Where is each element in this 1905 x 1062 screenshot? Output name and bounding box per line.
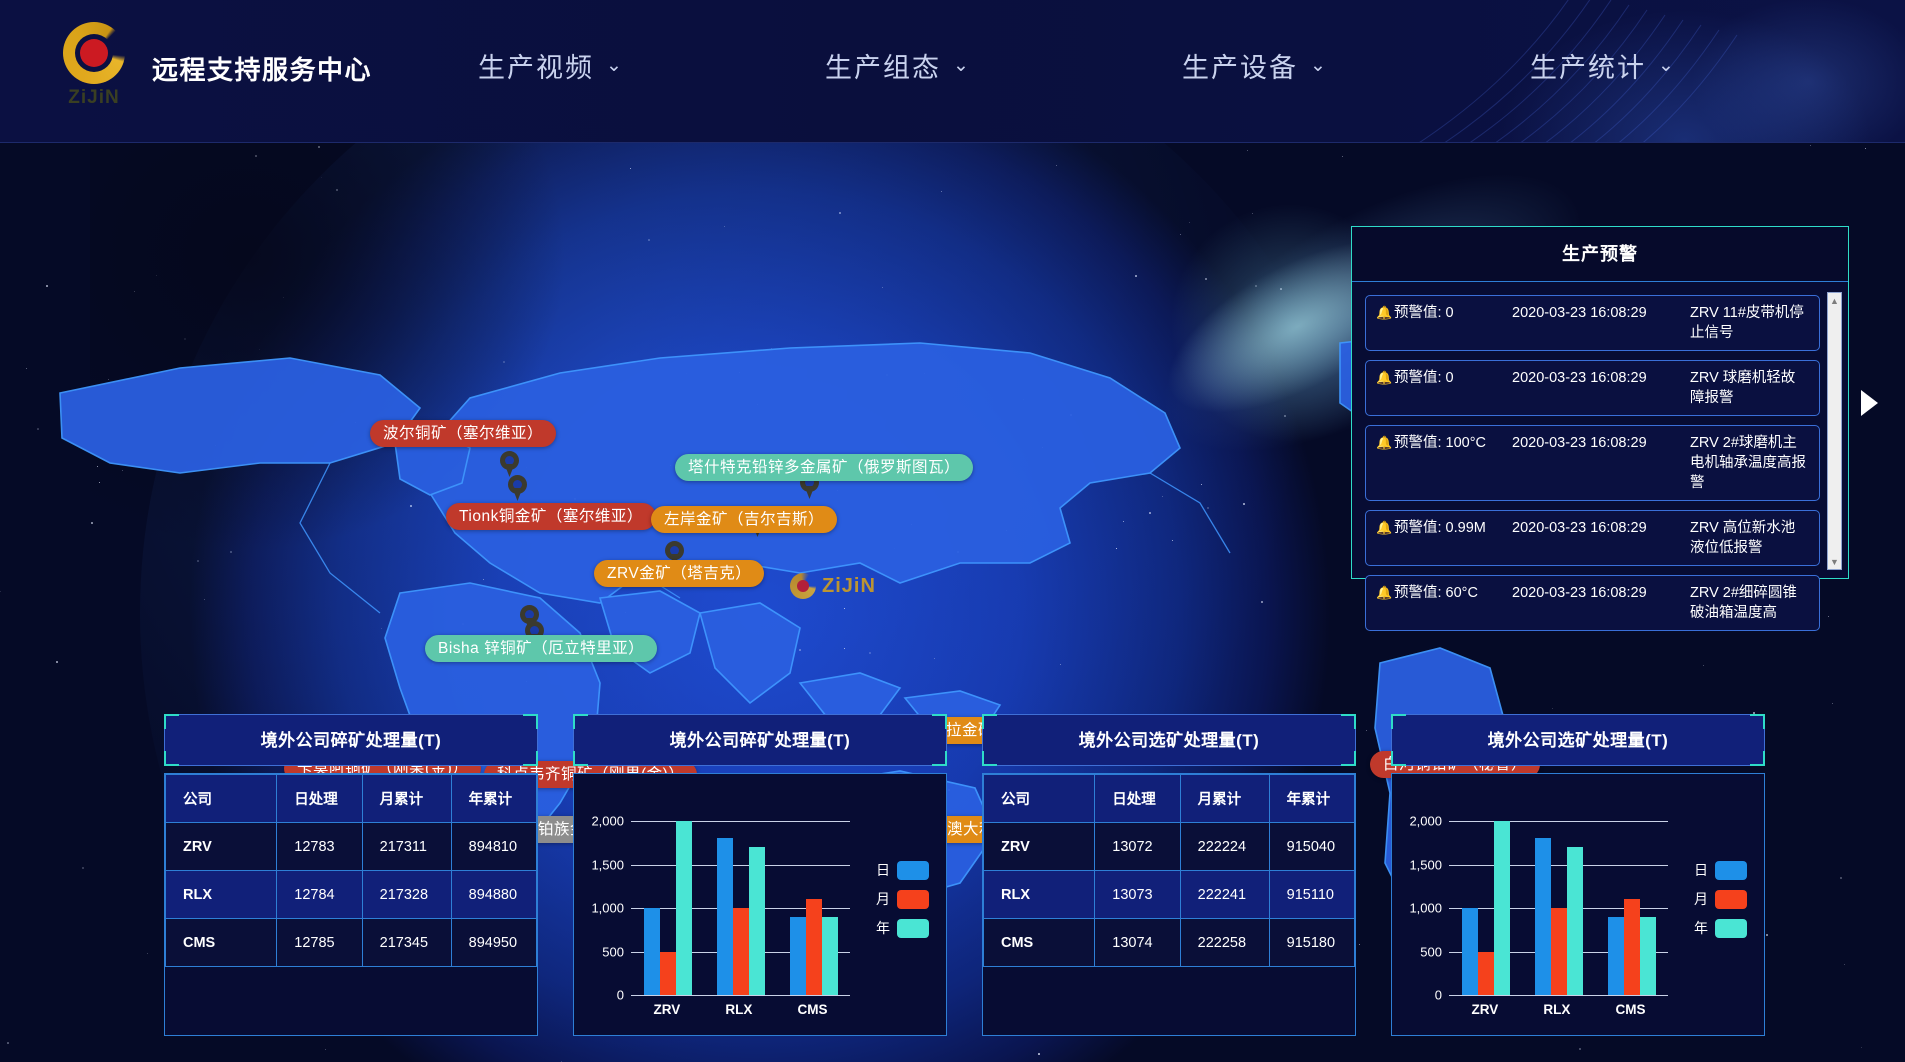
nav-item-production-statistics[interactable]: 生产统计 ⌄ [1530,46,1676,85]
stat-panel-title-text: 境外公司选矿处理量(T) [1488,731,1669,750]
map-pin-icon[interactable] [500,451,519,477]
star [1865,148,1866,149]
nav-item-production-scada[interactable]: 生产组态 ⌄ [825,46,971,85]
stat-panel: 境外公司选矿处理量(T)05001,0001,5002,000ZRVRLXCMS… [1391,714,1765,1036]
table-cell: 894810 [451,823,536,871]
star [1703,665,1704,666]
corner-bracket [982,751,997,766]
chart-bar [717,838,733,995]
app-header: ZiJiN 远程支持服务中心 生产视频 ⌄ 生产组态 ⌄ 生产设备 ⌄ 生产统计… [0,0,1905,143]
chart-bar-group [790,821,838,995]
chart-plot-area: 05001,0001,5002,000 [631,821,850,995]
chart-bar-group [1535,821,1583,995]
table-cell: ZRV [166,823,277,871]
star [1844,964,1845,965]
alert-list[interactable]: 🔔预警值: 02020-03-23 16:08:29ZRV 11#皮带机停止信号… [1352,282,1848,578]
panel-toggle-play-right-icon[interactable] [1861,390,1878,416]
alert-message: ZRV 11#皮带机停止信号 [1690,303,1809,343]
star [46,285,48,287]
chart-bar-group [644,821,692,995]
corner-bracket [1391,751,1406,766]
star [1579,1048,1581,1050]
table-cell: 222224 [1180,823,1269,871]
bell-icon: 🔔 [1376,433,1394,453]
star [56,661,58,663]
production-alert-panel: 生产预警 🔔预警值: 02020-03-23 16:08:29ZRV 11#皮带… [1351,226,1849,579]
stat-panel-title: 境外公司碎矿处理量(T) [164,714,538,766]
table-cell: 13073 [1095,871,1180,919]
stat-panel-title-text: 境外公司碎矿处理量(T) [670,731,851,750]
alert-timestamp: 2020-03-23 16:08:29 [1512,433,1690,453]
x-axis-label: ZRV [1472,1002,1499,1017]
map-pin-icon[interactable] [508,475,527,501]
alert-message: ZRV 高位新水池液位低报警 [1690,518,1809,558]
star [1252,213,1253,214]
legend-item[interactable]: 日 [876,860,929,880]
map-site-label[interactable]: Tionk铜金矿（塞尔维亚） [446,503,656,530]
stat-panel-body: 公司日处理月累计年累计ZRV13072222224915040RLX130732… [982,773,1356,1036]
chart-bar [806,899,822,995]
alert-threshold: 预警值: 100°C [1394,433,1512,453]
legend-label: 日 [1694,860,1708,880]
table-row[interactable]: ZRV12783217311894810 [166,823,537,871]
star [1552,708,1553,709]
table-header-cell: 公司 [984,775,1095,823]
page-title: 远程支持服务中心 [152,50,372,87]
main-nav: 生产视频 ⌄ 生产组态 ⌄ 生产设备 ⌄ 生产统计 ⌄ [470,46,1800,92]
legend-label: 月 [876,889,890,909]
map-site-label[interactable]: 波尔铜矿（塞尔维亚） [370,420,556,447]
star [1342,156,1343,157]
x-axis-label: RLX [725,1002,752,1017]
chart-bar [1551,908,1567,995]
y-axis-tick: 1,500 [591,857,624,872]
alert-timestamp: 2020-03-23 16:08:29 [1512,368,1690,388]
legend-label: 日 [876,860,890,880]
chevron-down-icon: ⌄ [1658,54,1676,77]
chart-bar [644,908,660,995]
chart-bar [822,917,838,995]
chart-bar [790,917,806,995]
legend-label: 年 [876,918,890,938]
bar-chart: 05001,0001,5002,000ZRVRLXCMS日月年 [574,774,946,1036]
pin-tip [513,488,523,501]
stat-panel-title: 境外公司碎矿处理量(T) [573,714,947,766]
x-axis-label: ZRV [654,1002,681,1017]
nav-label: 生产统计 [1530,46,1646,85]
table-cell: 13072 [1095,823,1180,871]
chart-bar [1478,952,1494,996]
bar-chart: 05001,0001,5002,000ZRVRLXCMS日月年 [1392,774,1764,1036]
chart-bar [676,821,692,995]
gridline [1449,995,1668,996]
bell-icon: 🔔 [1376,368,1394,388]
table-cell: 217345 [362,919,451,967]
map-site-label[interactable]: 塔什特克铅锌多金属矿（俄罗斯图瓦） [675,454,973,481]
corner-bracket [982,714,997,729]
table-cell: 915180 [1269,919,1354,967]
table-header-row: 公司日处理月累计年累计 [166,775,537,823]
table-header-cell: 年累计 [451,775,536,823]
pin-hole [670,546,679,555]
pin-hole [530,626,539,635]
bell-icon: 🔔 [1376,303,1394,323]
stat-panel-title-text: 境外公司选矿处理量(T) [1079,731,1260,750]
alert-threshold: 预警值: 0 [1394,303,1512,323]
star [1828,616,1829,617]
alert-threshold: 预警值: 60°C [1394,583,1512,603]
logo-dot [80,39,108,67]
corner-bracket [573,751,588,766]
y-axis-tick: 2,000 [591,814,624,829]
scroll-up-icon[interactable]: ▲ [1828,294,1841,307]
table-cell: 222258 [1180,919,1269,967]
stat-panel-title: 境外公司选矿处理量(T) [982,714,1356,766]
corner-bracket [1341,714,1356,729]
star [0,591,1,592]
chevron-down-icon: ⌄ [1310,54,1328,77]
chart-bar [1608,917,1624,995]
legend-item[interactable]: 月 [1694,889,1747,909]
star [147,953,148,954]
data-table: 公司日处理月累计年累计ZRV12783217311894810RLX127842… [165,774,537,967]
star [82,867,84,869]
star [1810,145,1811,146]
chart-bar-group [717,821,765,995]
table-row[interactable]: RLX13073222241915110 [984,871,1355,919]
legend-item[interactable]: 年 [1694,918,1747,938]
pin-hole [525,610,534,619]
corner-bracket [932,714,947,729]
alert-timestamp: 2020-03-23 16:08:29 [1512,303,1690,323]
corner-bracket [573,714,588,729]
table-cell: 894880 [451,871,536,919]
nav-label: 生产视频 [478,46,594,85]
nav-label: 生产组态 [825,46,941,85]
table-cell: 12784 [277,871,362,919]
watermark-text: ZiJiN [822,575,876,598]
chart-bar [749,847,765,995]
table-cell: RLX [166,871,277,919]
dashboard-root: ZiJiN 远程支持服务中心 生产视频 ⌄ 生产组态 ⌄ 生产设备 ⌄ 生产统计… [0,0,1905,1062]
y-axis-tick: 500 [1420,944,1442,959]
star [7,1042,9,1044]
chart-bar [1624,899,1640,995]
table-cell: 12785 [277,919,362,967]
star [37,428,39,430]
scroll-down-icon[interactable]: ▼ [1828,555,1841,568]
legend-item[interactable]: 日 [1694,860,1747,880]
star [26,368,27,369]
x-axis-label: RLX [1543,1002,1570,1017]
alert-timestamp: 2020-03-23 16:08:29 [1512,518,1690,538]
table-cell: 12783 [277,823,362,871]
table-cell: 915040 [1269,823,1354,871]
chart-bar [1494,821,1510,995]
stat-panel: 境外公司碎矿处理量(T)05001,0001,5002,000ZRVRLXCMS… [573,714,947,1036]
legend-swatch [897,919,929,938]
nav-item-production-video[interactable]: 生产视频 ⌄ [478,46,624,85]
y-axis-tick: 2,000 [1409,814,1442,829]
table-row[interactable]: CMS12785217345894950 [166,919,537,967]
gridline [631,995,850,996]
table-cell: 217328 [362,871,451,919]
x-axis: ZRVRLXCMS [631,1002,850,1017]
chart-bars [631,821,850,995]
table-cell: 915110 [1269,871,1354,919]
table-cell: CMS [984,919,1095,967]
chart-bar [1640,917,1656,995]
stat-panel: 境外公司选矿处理量(T)公司日处理月累计年累计ZRV13072222224915… [982,714,1356,1036]
alert-row[interactable]: 🔔预警值: 02020-03-23 16:08:29ZRV 球磨机轻故障报警 [1365,360,1820,416]
chart-bar [733,908,749,995]
pin-hole [513,480,522,489]
legend-swatch [1715,919,1747,938]
chart-bars [1449,821,1668,995]
table-row[interactable]: CMS13074222258915180 [984,919,1355,967]
table-cell: 222241 [1180,871,1269,919]
table-cell: CMS [166,919,277,967]
table-cell: 894950 [451,919,536,967]
table-row[interactable]: ZRV13072222224915040 [984,823,1355,871]
table-cell: ZRV [984,823,1095,871]
legend-swatch [897,861,929,880]
legend-item[interactable]: 年 [876,918,929,938]
chart-plot-area: 05001,0001,5002,000 [1449,821,1668,995]
bell-icon: 🔔 [1376,583,1394,603]
alert-timestamp: 2020-03-23 16:08:29 [1512,583,1690,603]
corner-bracket [1341,751,1356,766]
y-axis-tick: 1,500 [1409,857,1442,872]
star [1766,934,1768,936]
chart-legend: 日月年 [876,860,929,947]
stat-panel-body: 05001,0001,5002,000ZRVRLXCMS日月年 [573,773,947,1036]
y-axis-tick: 0 [617,988,624,1003]
stat-panel-body: 05001,0001,5002,000ZRVRLXCMS日月年 [1391,773,1765,1036]
table-header-row: 公司日处理月累计年累计 [984,775,1355,823]
table-header-cell: 日处理 [1095,775,1180,823]
corner-bracket [1750,714,1765,729]
corner-bracket [164,714,179,729]
star [1840,877,1842,879]
map-site-label[interactable]: Bisha 锌铜矿（厄立特里亚） [425,635,657,662]
watermark-logo-icon [790,573,816,599]
legend-swatch [897,890,929,909]
corner-bracket [1750,751,1765,766]
chart-bar [660,952,676,996]
alert-message: ZRV 球磨机轻故障报警 [1690,368,1809,408]
y-axis-tick: 500 [602,944,624,959]
pin-tip [805,486,815,499]
chart-bar-group [1608,821,1656,995]
y-axis-tick: 0 [1435,988,1442,1003]
star [1359,944,1360,945]
y-axis-tick: 1,000 [591,901,624,916]
logo-wordmark: ZiJiN [58,87,130,109]
stat-panel-title-text: 境外公司碎矿处理量(T) [261,731,442,750]
globe-watermark: ZiJiN [790,573,876,599]
pin-hole [505,456,514,465]
alert-message: ZRV 2#细碎圆锥破油箱温度高 [1690,583,1809,623]
star [1832,703,1833,704]
table-row[interactable]: RLX12784217328894880 [166,871,537,919]
corner-bracket [523,714,538,729]
data-table: 公司日处理月累计年累计ZRV13072222224915040RLX130732… [983,774,1355,967]
x-axis: ZRVRLXCMS [1449,1002,1668,1017]
chevron-down-icon: ⌄ [953,54,971,77]
chart-bar [1462,908,1478,995]
alert-row[interactable]: 🔔预警值: 100°C2020-03-23 16:08:29ZRV 2#球磨机主… [1365,425,1820,501]
corner-bracket [164,751,179,766]
alert-row[interactable]: 🔔预警值: 02020-03-23 16:08:29ZRV 11#皮带机停止信号 [1365,295,1820,351]
chart-bar-group [1462,821,1510,995]
alert-message: ZRV 2#球磨机主电机轴承温度高报警 [1690,433,1809,493]
star [1861,1047,1862,1048]
legend-swatch [1715,890,1747,909]
table-header-cell: 年累计 [1269,775,1354,823]
chevron-down-icon: ⌄ [606,54,624,77]
corner-bracket [932,751,947,766]
corner-bracket [523,751,538,766]
alert-panel-title: 生产预警 [1352,227,1848,282]
map-site-label[interactable]: ZRV金矿（塔吉克） [594,560,764,587]
table-header-cell: 月累计 [1180,775,1269,823]
x-axis-label: CMS [1615,1002,1645,1017]
nav-label: 生产设备 [1182,46,1298,85]
stat-panel-body: 公司日处理月累计年累计ZRV12783217311894810RLX127842… [164,773,538,1036]
table-header-cell: 日处理 [277,775,362,823]
legend-label: 年 [1694,918,1708,938]
bell-icon: 🔔 [1376,518,1394,538]
zijin-logo-icon [63,22,125,84]
corner-bracket [1391,714,1406,729]
map-site-label[interactable]: 左岸金矿（吉尔吉斯） [651,506,837,533]
table-cell: 13074 [1095,919,1180,967]
alert-threshold: 预警值: 0 [1394,368,1512,388]
alert-row[interactable]: 🔔预警值: 0.99M2020-03-23 16:08:29ZRV 高位新水池液… [1365,510,1820,566]
table-cell: 217311 [362,823,451,871]
chart-bar [1567,847,1583,995]
chart-bar [1535,838,1551,995]
brand-logo[interactable]: ZiJiN [58,22,130,118]
star [1247,150,1248,151]
table-header-cell: 公司 [166,775,277,823]
nav-item-production-equipment[interactable]: 生产设备 ⌄ [1182,46,1328,85]
alert-threshold: 预警值: 0.99M [1394,518,1512,538]
legend-item[interactable]: 月 [876,889,929,909]
legend-swatch [1715,861,1747,880]
alert-scrollbar[interactable]: ▲ ▼ [1827,292,1842,570]
chart-legend: 日月年 [1694,860,1747,947]
stat-panel: 境外公司碎矿处理量(T)公司日处理月累计年累计ZRV12783217311894… [164,714,538,1036]
table-cell: RLX [984,871,1095,919]
legend-label: 月 [1694,889,1708,909]
table-header-cell: 月累计 [362,775,451,823]
alert-row[interactable]: 🔔预警值: 60°C2020-03-23 16:08:29ZRV 2#细碎圆锥破… [1365,575,1820,631]
y-axis-tick: 1,000 [1409,901,1442,916]
stat-panel-title: 境外公司选矿处理量(T) [1391,714,1765,766]
x-axis-label: CMS [797,1002,827,1017]
